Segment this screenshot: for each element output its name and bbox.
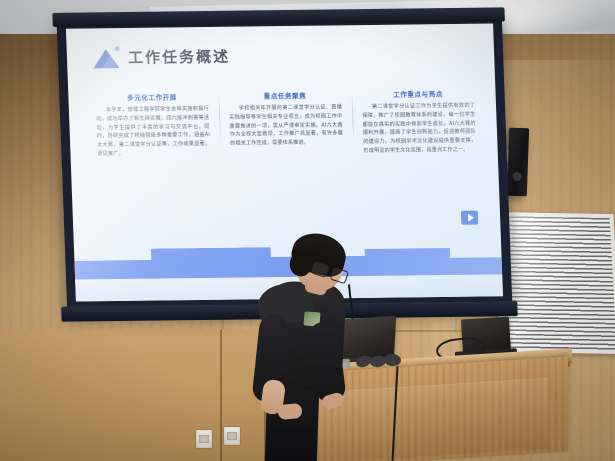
column-1-body: 本学年，管理工程学院学生会举实施积极行动，成功举办了新生辩论赛、四六级冲刺荟等活… (96, 105, 211, 159)
slide-header: 工作任务概述 (93, 45, 231, 69)
room-photo-scene: 工作任务概述 多元化工作开展 本学年，管理工程学院学生会举实施积极行动，成功举办… (0, 0, 615, 461)
vent-gloss (497, 216, 615, 350)
blue-triangle-logo-icon (93, 46, 120, 68)
column-2-body: 学校相关年开展的第二课堂学分认证、直播实践指导等学生相关专业项五，成为校园工作中… (229, 103, 344, 148)
slide-columns: 多元化工作开展 本学年，管理工程学院学生会举实施积极行动，成功举办了新生辩论赛、… (90, 86, 482, 159)
slide-column-1: 多元化工作开展 本学年，管理工程学院学生会举实施积极行动，成功举办了新生辩论赛、… (90, 89, 216, 159)
logo-dot (115, 46, 120, 51)
slide-title: 工作任务概述 (128, 45, 231, 67)
column-1-heading: 多元化工作开展 (95, 91, 208, 102)
column-3-body: 第二课堂学分认证工作为学生提供有效的了保障，推广了校园教育体系的建设，每一位学生… (362, 102, 477, 156)
slide-column-2: 重点任务聚焦 学校相关年开展的第二课堂学分认证、直播实践指导等学生相关专业项五，… (223, 87, 349, 157)
power-outlet-left[interactable] (196, 430, 212, 448)
wall-speaker (507, 128, 529, 197)
presenter (252, 236, 372, 461)
play-icon[interactable] (461, 211, 479, 225)
column-2-heading: 重点任务聚焦 (228, 89, 341, 100)
wall-lower-seam (220, 330, 222, 461)
slide-column-3: 工作重点与亮点 第二课堂学分认证工作为学生提供有效的了保障，推广了校园教育体系的… (356, 86, 482, 156)
logo-triangle-inner (102, 55, 118, 68)
power-outlet-right[interactable] (224, 427, 240, 445)
column-3-heading: 工作重点与亮点 (361, 88, 474, 99)
